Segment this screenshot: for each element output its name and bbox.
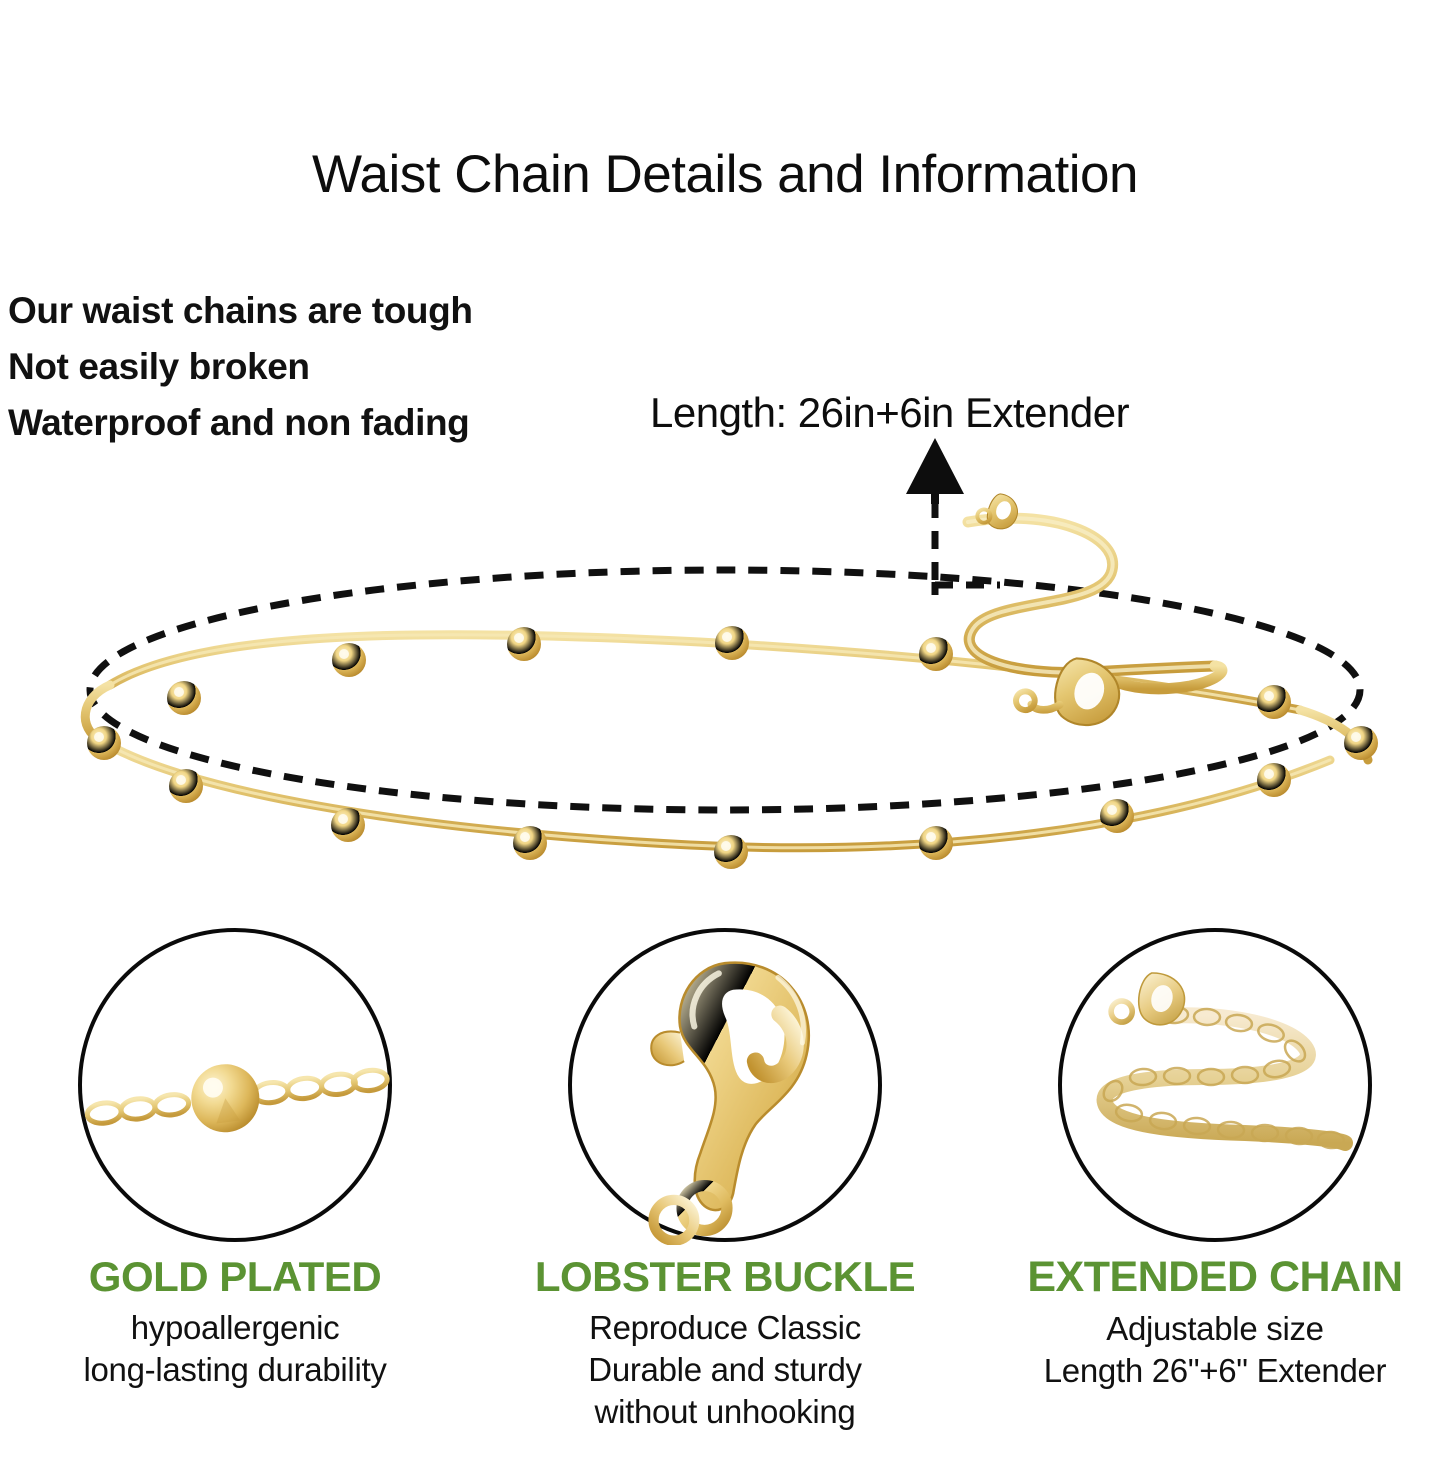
feature-lobster-buckle: LOBSTER BUCKLE Reproduce Classic Durable… (490, 920, 960, 1433)
extender-chain-closeup-icon (1055, 925, 1375, 1245)
product-claims-list: Our waist chains are tough Not easily br… (8, 283, 568, 451)
feature-description: hypoallergenic long-lasting durability (0, 1307, 470, 1391)
feature-desc-line: Length 26"+6" Extender (980, 1350, 1450, 1392)
feature-title: LOBSTER BUCKLE (490, 1255, 960, 1299)
feature-desc-line: Reproduce Classic (490, 1307, 960, 1349)
feature-description: Reproduce Classic Durable and sturdy wit… (490, 1307, 960, 1433)
feature-desc-line: Durable and sturdy (490, 1349, 960, 1391)
feature-description: Adjustable size Length 26"+6" Extender (980, 1308, 1450, 1392)
feature-title: EXTENDED CHAIN (980, 1255, 1450, 1300)
feature-desc-line: Adjustable size (980, 1308, 1450, 1350)
product-hero-illustration (0, 430, 1450, 900)
feature-desc-line: without unhooking (490, 1391, 960, 1433)
feature-title: GOLD PLATED (0, 1255, 470, 1299)
lobster-clasp-closeup-icon (565, 925, 885, 1245)
bead-chain-closeup-icon (75, 925, 395, 1245)
extender-chain-icon (968, 488, 1222, 688)
feature-gold-plated: GOLD PLATED hypoallergenic long-lasting … (0, 920, 470, 1391)
feature-columns: GOLD PLATED hypoallergenic long-lasting … (0, 920, 1450, 1484)
claim-line-2: Not easily broken (8, 339, 568, 395)
main-lobster-clasp-icon (1014, 642, 1128, 737)
page-title: Waist Chain Details and Information (0, 148, 1450, 201)
feature-desc-line: long-lasting durability (0, 1349, 470, 1391)
feature-desc-line: hypoallergenic (0, 1307, 470, 1349)
claim-line-1: Our waist chains are tough (8, 283, 568, 339)
feature-extended-chain: EXTENDED CHAIN Adjustable size Length 26… (980, 920, 1450, 1392)
